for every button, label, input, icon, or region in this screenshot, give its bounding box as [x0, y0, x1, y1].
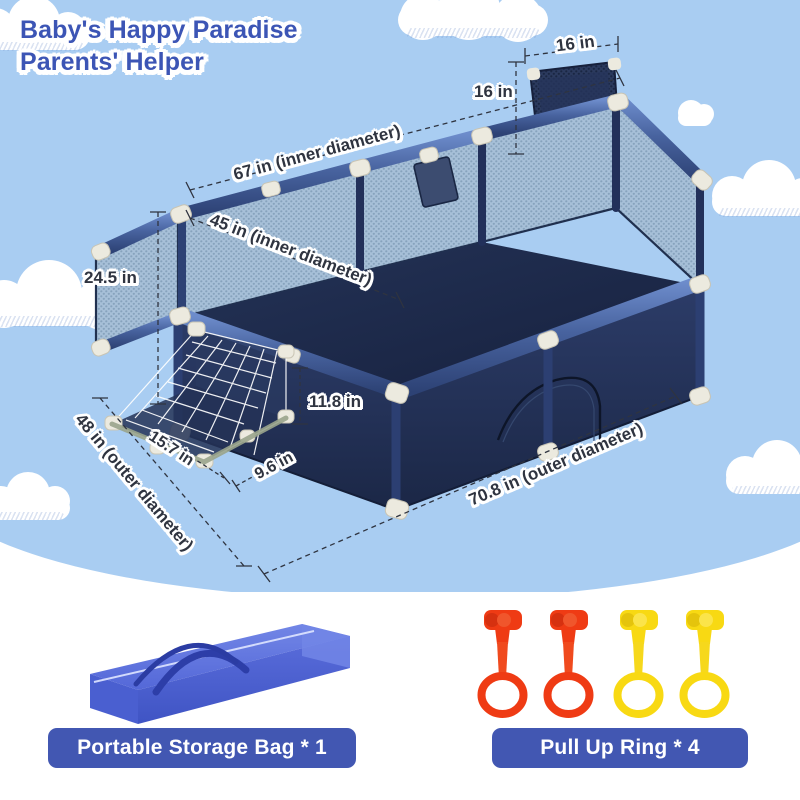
ring-yellow-2 [684, 610, 726, 714]
dim-pen-height: 24.5 in [84, 268, 137, 288]
infographic-canvas: Baby's Happy Paradise Parents' Helper [0, 0, 800, 800]
playpen-illustration [0, 0, 800, 600]
pull-up-ring-image [462, 606, 762, 726]
pull-up-ring-caption: Pull Up Ring * 4 [492, 728, 748, 768]
ring-yellow-1 [618, 610, 660, 714]
title-line-2: Parents' Helper [20, 46, 298, 78]
page-title: Baby's Happy Paradise Parents' Helper [20, 14, 298, 78]
storage-bag-image [50, 604, 380, 724]
ring-red-2 [548, 610, 590, 714]
storage-bag-caption: Portable Storage Bag * 1 [48, 728, 356, 768]
dim-hoop-height: 16 in [474, 82, 513, 102]
ring-red-1 [482, 610, 524, 714]
accessory-strip: Portable Storage Bag * 1 [0, 592, 800, 800]
title-line-1: Baby's Happy Paradise [20, 14, 298, 46]
dim-goal-height: 11.8 in [309, 392, 361, 412]
